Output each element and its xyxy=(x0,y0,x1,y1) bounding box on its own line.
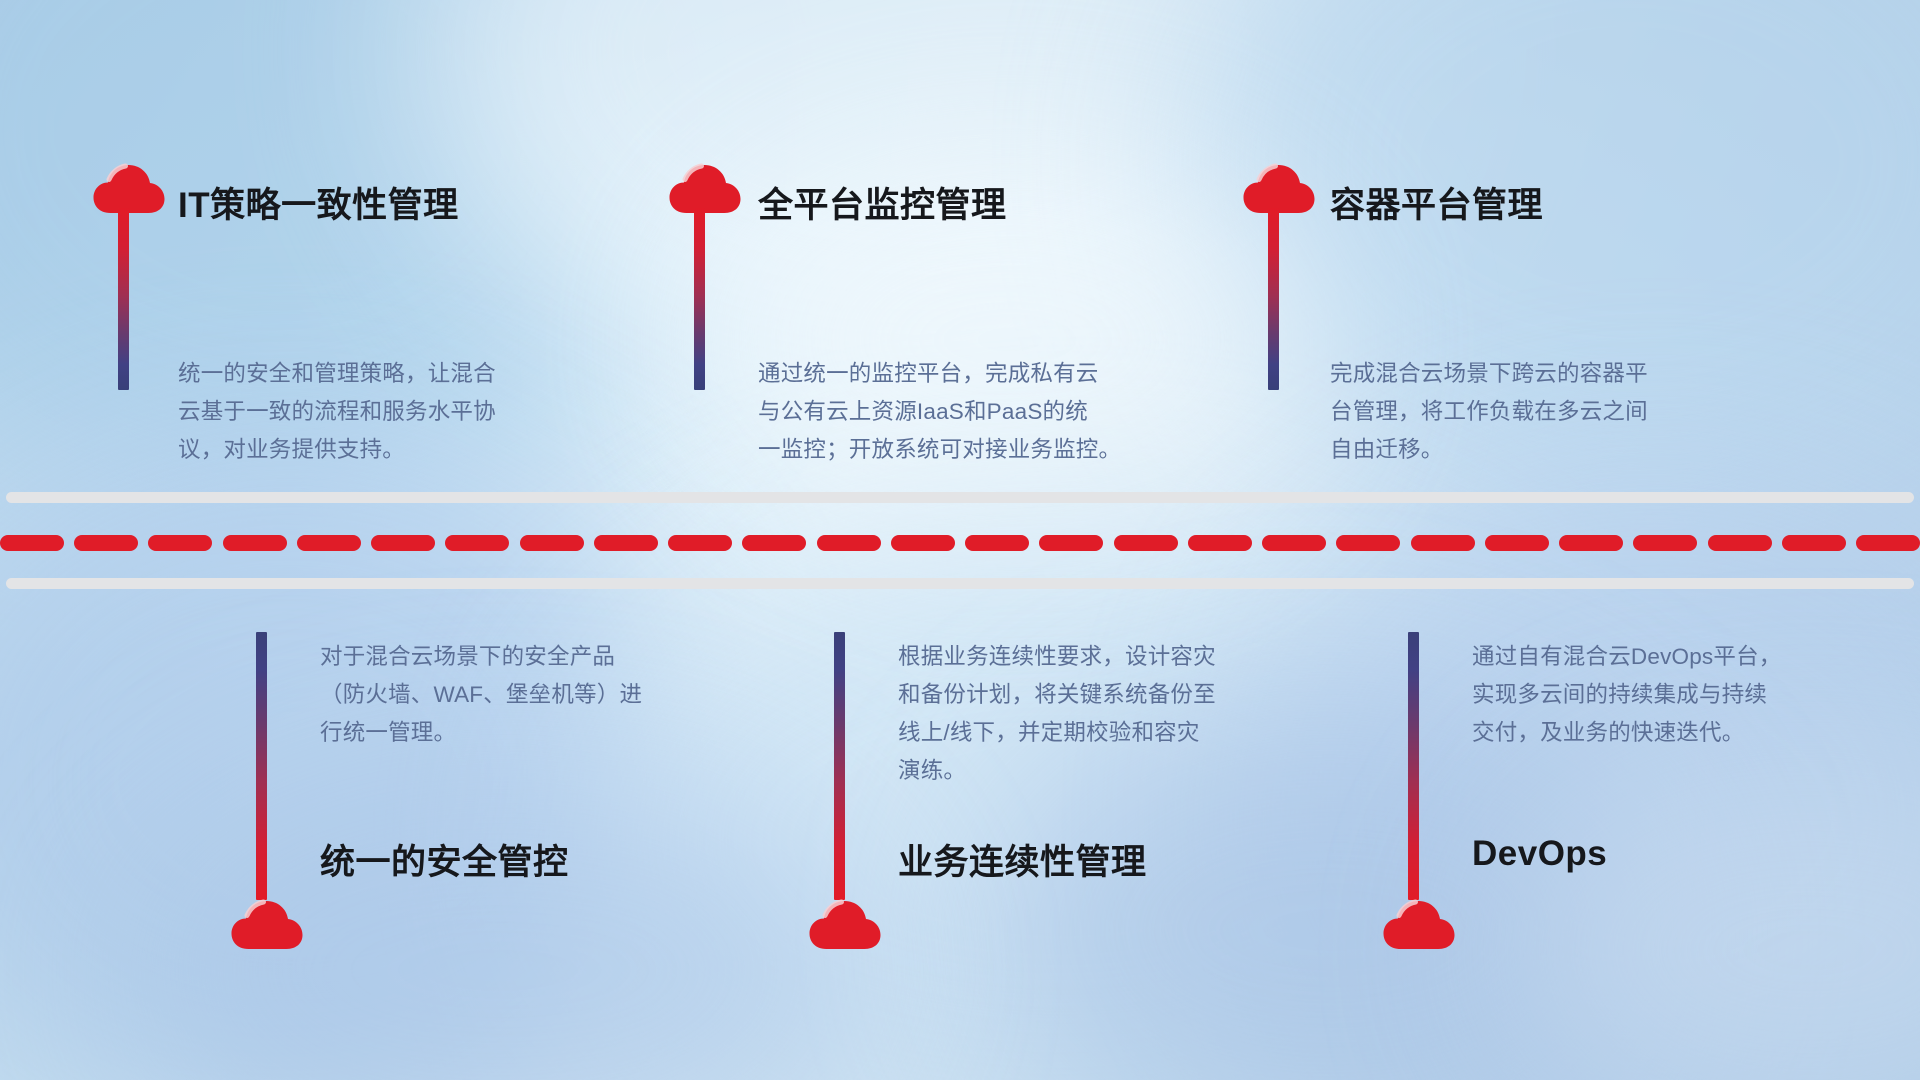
divider-dash xyxy=(594,535,658,551)
divider-dash xyxy=(148,535,212,551)
card-title: 统一的安全管控 xyxy=(320,834,569,885)
divider-dash xyxy=(1039,535,1103,551)
divider-dash xyxy=(1782,535,1846,551)
card-body: 通过统一的监控平台，完成私有云 与公有云上资源IaaS和PaaS的统 一监控；开… xyxy=(758,355,1121,469)
connector-line xyxy=(1408,632,1419,900)
connector-line xyxy=(834,632,845,900)
divider-dash xyxy=(965,535,1029,551)
card-body: 通过自有混合云DevOps平台， 实现多云间的持续集成与持续 交付，及业务的快速… xyxy=(1472,638,1781,752)
divider-dash xyxy=(1708,535,1772,551)
divider-dash xyxy=(1114,535,1178,551)
cloud-icon xyxy=(1382,896,1456,952)
divider-dash xyxy=(668,535,732,551)
card-title: 容器平台管理 xyxy=(1330,177,1543,228)
card-title: DevOps xyxy=(1472,834,1607,874)
card-title: IT策略一致性管理 xyxy=(178,177,459,228)
card-title: 全平台监控管理 xyxy=(758,177,1007,228)
card-body: 对于混合云场景下的安全产品 （防火墙、WAF、堡垒机等）进 行统一管理。 xyxy=(320,638,642,752)
divider-dash xyxy=(1188,535,1252,551)
divider-dash xyxy=(1411,535,1475,551)
divider-dash xyxy=(1336,535,1400,551)
divider-dash xyxy=(1485,535,1549,551)
divider-dash xyxy=(1633,535,1697,551)
card-title: 业务连续性管理 xyxy=(898,834,1147,885)
card-body: 统一的安全和管理策略，让混合 云基于一致的流程和服务水平协 议，对业务提供支持。 xyxy=(178,355,496,469)
divider-rail-bottom xyxy=(6,578,1914,589)
divider-dash xyxy=(1262,535,1326,551)
infographic-canvas: IT策略一致性管理 统一的安全和管理策略，让混合 云基于一致的流程和服务水平协 … xyxy=(0,0,1920,1080)
divider-dashed-line xyxy=(0,535,1920,551)
divider-dash xyxy=(1559,535,1623,551)
card-body: 根据业务连续性要求，设计容灾 和备份计划，将关键系统备份至 线上/线下，并定期校… xyxy=(898,638,1216,790)
divider-dash xyxy=(0,535,64,551)
divider-dash xyxy=(520,535,584,551)
divider-rail-top xyxy=(6,492,1914,503)
cloud-icon xyxy=(92,160,166,216)
divider-dash xyxy=(223,535,287,551)
divider-dash xyxy=(891,535,955,551)
card-body: 完成混合云场景下跨云的容器平 台管理，将工作负载在多云之间 自由迁移。 xyxy=(1330,355,1648,469)
divider-dash xyxy=(817,535,881,551)
connector-line xyxy=(118,208,129,390)
cloud-icon xyxy=(808,896,882,952)
divider-dash xyxy=(1856,535,1920,551)
divider-dash xyxy=(742,535,806,551)
cloud-icon xyxy=(230,896,304,952)
divider-dash xyxy=(74,535,138,551)
cloud-icon xyxy=(668,160,742,216)
divider-dash xyxy=(445,535,509,551)
connector-line xyxy=(256,632,267,900)
connector-line xyxy=(694,208,705,390)
cloud-icon xyxy=(1242,160,1316,216)
divider-dash xyxy=(297,535,361,551)
divider-dash xyxy=(371,535,435,551)
connector-line xyxy=(1268,208,1279,390)
